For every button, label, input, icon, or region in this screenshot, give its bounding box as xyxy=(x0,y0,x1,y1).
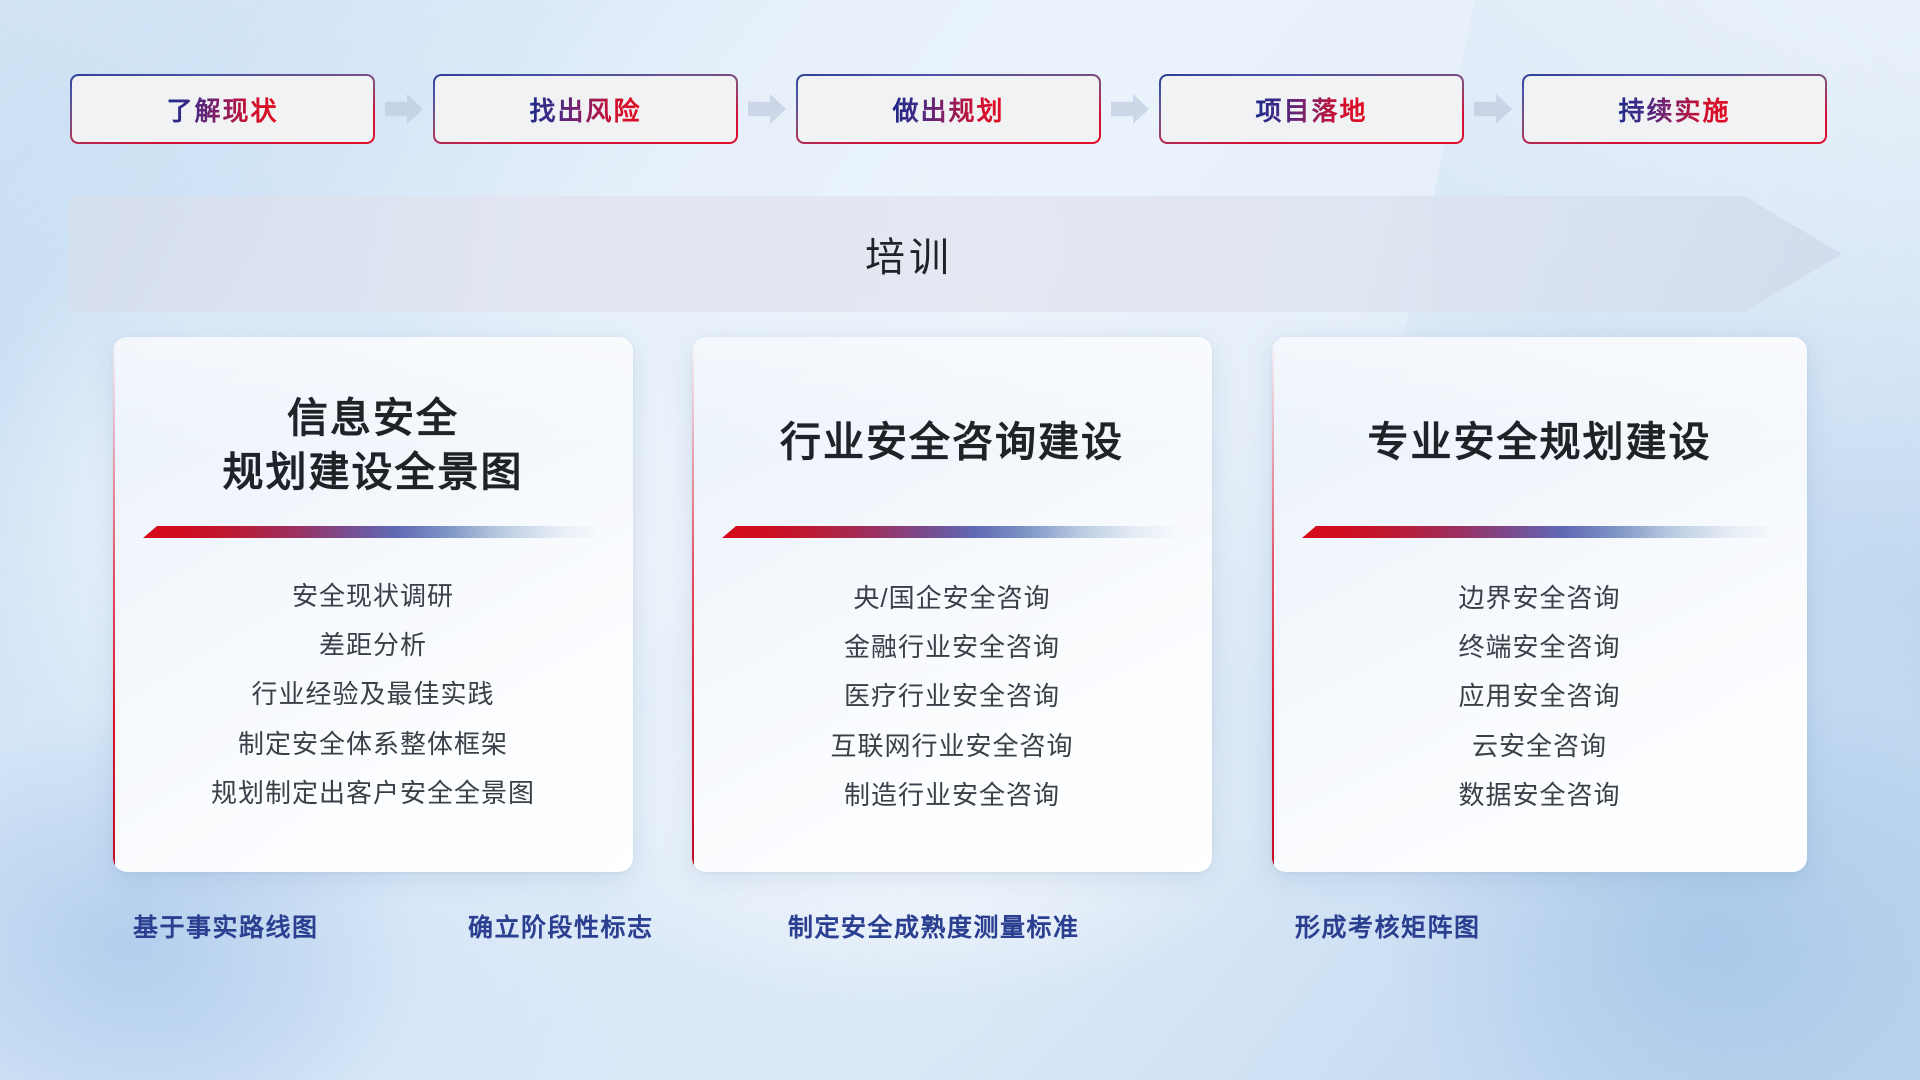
card-title-1: 信息安全 规划建设全景图 xyxy=(113,391,633,499)
list-item: 金融行业安全咨询 xyxy=(844,632,1060,663)
card-title-line-1: 专业安全规划建设 xyxy=(1272,415,1807,469)
card-title-3: 专业安全规划建设 xyxy=(1272,415,1807,469)
step-label-4: 项目落地 xyxy=(1255,91,1367,128)
step-box-4[interactable]: 项目落地 xyxy=(1159,74,1464,144)
card-title-line-1: 行业安全咨询建设 xyxy=(692,415,1212,469)
card-divider-1 xyxy=(143,526,603,538)
banner-title: 培训 xyxy=(70,196,1842,312)
step-box-2[interactable]: 找出风险 xyxy=(433,74,738,144)
list-item: 差距分析 xyxy=(319,630,427,661)
step-box-1[interactable]: 了解现状 xyxy=(70,74,375,144)
list-item: 数据安全咨询 xyxy=(1458,780,1620,811)
step-label-2: 找出风险 xyxy=(529,91,641,128)
card-list-1: 安全现状调研 差距分析 行业经验及最佳实践 制定安全体系整体框架 规划制定出客户… xyxy=(113,581,633,809)
card-group: 信息安全 规划建设全景图 安全现状调研 差距分析 行业经验及最佳实践 制定安全体… xyxy=(0,337,1920,872)
step-connector-2 xyxy=(738,94,796,124)
footer-label-4: 形成考核矩阵图 xyxy=(1295,908,1481,944)
step-connector-4 xyxy=(1464,94,1522,124)
list-item: 制造行业安全咨询 xyxy=(844,780,1060,811)
list-item: 制定安全体系整体框架 xyxy=(238,729,508,760)
card-divider-3 xyxy=(1302,526,1777,538)
footer-label-2: 确立阶段性标志 xyxy=(468,908,654,944)
footer-label-1: 基于事实路线图 xyxy=(133,908,319,944)
card-title-line-2: 规划建设全景图 xyxy=(113,445,633,499)
step-connector-3 xyxy=(1101,94,1159,124)
card-list-2: 央/国企安全咨询 金融行业安全咨询 医疗行业安全咨询 互联网行业安全咨询 制造行… xyxy=(692,583,1212,811)
list-item: 边界安全咨询 xyxy=(1458,583,1620,614)
step-label-3: 做出规划 xyxy=(892,91,1004,128)
list-item: 互联网行业安全咨询 xyxy=(830,731,1073,762)
list-item: 应用安全咨询 xyxy=(1458,681,1620,712)
footer-label-row: 基于事实路线图 确立阶段性标志 制定安全成熟度测量标准 形成考核矩阵图 xyxy=(0,908,1920,960)
card-professional-security-planning[interactable]: 专业安全规划建设 边界安全咨询 终端安全咨询 应用安全咨询 云安全咨询 数据安全… xyxy=(1272,337,1807,872)
step-connector-1 xyxy=(375,94,433,124)
card-industry-security-consulting[interactable]: 行业安全咨询建设 央/国企安全咨询 金融行业安全咨询 医疗行业安全咨询 互联网行… xyxy=(692,337,1212,872)
step-label-1: 了解现状 xyxy=(166,91,278,128)
list-item: 医疗行业安全咨询 xyxy=(844,681,1060,712)
list-item: 行业经验及最佳实践 xyxy=(251,679,494,710)
list-item: 终端安全咨询 xyxy=(1458,632,1620,663)
arrow-right-icon xyxy=(748,94,786,124)
card-divider-wrap-3 xyxy=(1302,526,1777,538)
list-item: 安全现状调研 xyxy=(292,581,454,612)
step-box-3[interactable]: 做出规划 xyxy=(796,74,1101,144)
card-list-3: 边界安全咨询 终端安全咨询 应用安全咨询 云安全咨询 数据安全咨询 xyxy=(1272,583,1807,811)
list-item: 规划制定出客户安全全景图 xyxy=(211,778,535,809)
arrow-right-icon xyxy=(1474,94,1512,124)
step-box-5[interactable]: 持续实施 xyxy=(1522,74,1827,144)
card-divider-wrap-1 xyxy=(143,526,603,538)
step-label-5: 持续实施 xyxy=(1618,91,1730,128)
list-item: 云安全咨询 xyxy=(1472,731,1607,762)
card-title-line-1: 信息安全 xyxy=(113,391,633,445)
card-title-2: 行业安全咨询建设 xyxy=(692,415,1212,469)
list-item: 央/国企安全咨询 xyxy=(853,583,1050,614)
process-step-row: 了解现状 找出风险 做出规划 项目落地 持续实施 xyxy=(0,69,1920,149)
footer-label-3: 制定安全成熟度测量标准 xyxy=(788,908,1080,944)
card-divider-wrap-2 xyxy=(722,526,1182,538)
arrow-right-icon xyxy=(385,94,423,124)
card-divider-2 xyxy=(722,526,1182,538)
card-info-security-blueprint[interactable]: 信息安全 规划建设全景图 安全现状调研 差距分析 行业经验及最佳实践 制定安全体… xyxy=(113,337,633,872)
training-banner: 培训 xyxy=(70,196,1842,312)
arrow-right-icon xyxy=(1111,94,1149,124)
